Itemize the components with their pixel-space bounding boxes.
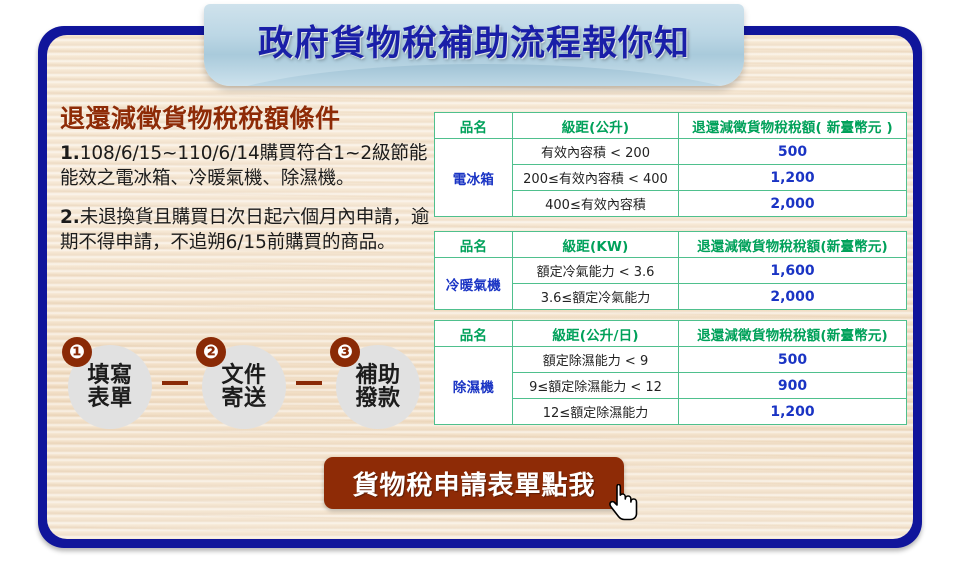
table-ac-amount-1: 1,600 xyxy=(679,258,907,284)
table-dehum-product: 除濕機 xyxy=(435,347,513,425)
table-row: 除濕機 額定除濕能力 < 9 500 xyxy=(435,347,907,373)
table-fridge-header-range: 級距(公升) xyxy=(513,113,679,139)
step-2-label: 文件 寄送 xyxy=(221,364,266,410)
table-ac-header-row: 品名 級距(KW) 退還減徵貨物稅稅額(新臺幣元) xyxy=(435,232,907,258)
page-title: 政府貨物稅補助流程報你知 xyxy=(204,4,744,66)
step-3-label: 補助 撥款 xyxy=(355,364,400,410)
table-dehum-header-name: 品名 xyxy=(435,321,513,347)
table-dehum-amount-2: 900 xyxy=(679,373,907,399)
table-row: 電冰箱 有效內容積 < 200 500 xyxy=(435,139,907,165)
table-dehumidifier: 品名 級距(公升/日) 退還減徵貨物稅稅額(新臺幣元) 除濕機 額定除濕能力 <… xyxy=(434,320,907,425)
table-ac-amount-2: 2,000 xyxy=(679,284,907,310)
conditions-heading: 退還減徵貨物稅稅額條件 xyxy=(60,105,430,134)
table-ac-header-amount: 退還減徵貨物稅稅額(新臺幣元) xyxy=(679,232,907,258)
table-dehum-amount-3: 1,200 xyxy=(679,399,907,425)
table-fridge-range-1: 有效內容積 < 200 xyxy=(513,139,679,165)
table-dehum-amount-1: 500 xyxy=(679,347,907,373)
step-2-label-line1: 文件 xyxy=(221,364,266,387)
step-1-number-badge: ❶ xyxy=(62,337,92,367)
title-ribbon: 政府貨物稅補助流程報你知 xyxy=(204,4,744,86)
table-dehum-range-1: 額定除濕能力 < 9 xyxy=(513,347,679,373)
step-3: ❸ 補助 撥款 xyxy=(330,337,422,429)
table-fridge-header-row: 品名 級距(公升) 退還減徵貨物稅稅額( 新臺幣元 ) xyxy=(435,113,907,139)
table-ac-header-name: 品名 xyxy=(435,232,513,258)
poster-root: 政府貨物稅補助流程報你知 退還減徵貨物稅稅額條件 1.108/6/15~110/… xyxy=(0,0,960,566)
condition-item-2: 2.未退換貨且購買日次日起六個月內申請，逾期不得申請，不追朔6/15前購買的商品… xyxy=(60,205,430,256)
table-fridge-range-3: 400≤有效內容積 xyxy=(513,191,679,217)
condition-1-text: 108/6/15~110/6/14購買符合1~2級節能能效之電冰箱、冷暖氣機、除… xyxy=(60,143,427,190)
condition-1-number: 1. xyxy=(60,143,80,164)
table-air-conditioner: 品名 級距(KW) 退還減徵貨物稅稅額(新臺幣元) 冷暖氣機 額定冷氣能力 < … xyxy=(434,231,907,310)
step-connector-1 xyxy=(162,381,188,385)
table-fridge-amount-1: 500 xyxy=(679,139,907,165)
step-2-number-badge: ❷ xyxy=(196,337,226,367)
step-1-label-line1: 填寫 xyxy=(87,364,132,387)
step-connector-2 xyxy=(296,381,322,385)
step-3-label-line2: 撥款 xyxy=(355,387,400,410)
table-fridge-amount-2: 1,200 xyxy=(679,165,907,191)
table-dehum-header-row: 品名 級距(公升/日) 退還減徵貨物稅稅額(新臺幣元) xyxy=(435,321,907,347)
step-3-label-line1: 補助 xyxy=(355,364,400,387)
table-dehum-range-3: 12≤額定除濕能力 xyxy=(513,399,679,425)
table-fridge: 品名 級距(公升) 退還減徵貨物稅稅額( 新臺幣元 ) 電冰箱 有效內容積 < … xyxy=(434,112,907,217)
table-ac-range-2: 3.6≤額定冷氣能力 xyxy=(513,284,679,310)
table-fridge-range-2: 200≤有效內容積 < 400 xyxy=(513,165,679,191)
step-2-label-line2: 寄送 xyxy=(221,387,266,410)
table-ac-header-range: 級距(KW) xyxy=(513,232,679,258)
table-ac-range-1: 額定冷氣能力 < 3.6 xyxy=(513,258,679,284)
process-steps: ❶ 填寫 表單 ❷ 文件 寄送 ❸ 補助 xyxy=(62,333,430,433)
cta-area: 貨物稅申請表單點我 xyxy=(324,457,644,515)
table-dehum-header-range: 級距(公升/日) xyxy=(513,321,679,347)
step-2: ❷ 文件 寄送 xyxy=(196,337,288,429)
conditions-section: 退還減徵貨物稅稅額條件 1.108/6/15~110/6/14購買符合1~2級節… xyxy=(60,105,430,256)
table-ac-product: 冷暖氣機 xyxy=(435,258,513,310)
step-3-number-badge: ❸ xyxy=(330,337,360,367)
condition-2-number: 2. xyxy=(60,207,80,228)
step-1-label-line2: 表單 xyxy=(87,387,132,410)
table-dehum-header-amount: 退還減徵貨物稅稅額(新臺幣元) xyxy=(679,321,907,347)
apply-form-button[interactable]: 貨物稅申請表單點我 xyxy=(324,457,624,509)
table-row: 冷暖氣機 額定冷氣能力 < 3.6 1,600 xyxy=(435,258,907,284)
step-1: ❶ 填寫 表單 xyxy=(62,337,154,429)
table-dehum-range-2: 9≤額定除濕能力 < 12 xyxy=(513,373,679,399)
condition-item-1: 1.108/6/15~110/6/14購買符合1~2級節能能效之電冰箱、冷暖氣機… xyxy=(60,141,430,192)
condition-2-text: 未退換貨且購買日次日起六個月內申請，逾期不得申請，不追朔6/15前購買的商品。 xyxy=(60,207,429,254)
table-fridge-header-name: 品名 xyxy=(435,113,513,139)
table-fridge-amount-3: 2,000 xyxy=(679,191,907,217)
table-fridge-product: 電冰箱 xyxy=(435,139,513,217)
step-1-label: 填寫 表單 xyxy=(87,364,132,410)
table-fridge-header-amount: 退還減徵貨物稅稅額( 新臺幣元 ) xyxy=(679,113,907,139)
